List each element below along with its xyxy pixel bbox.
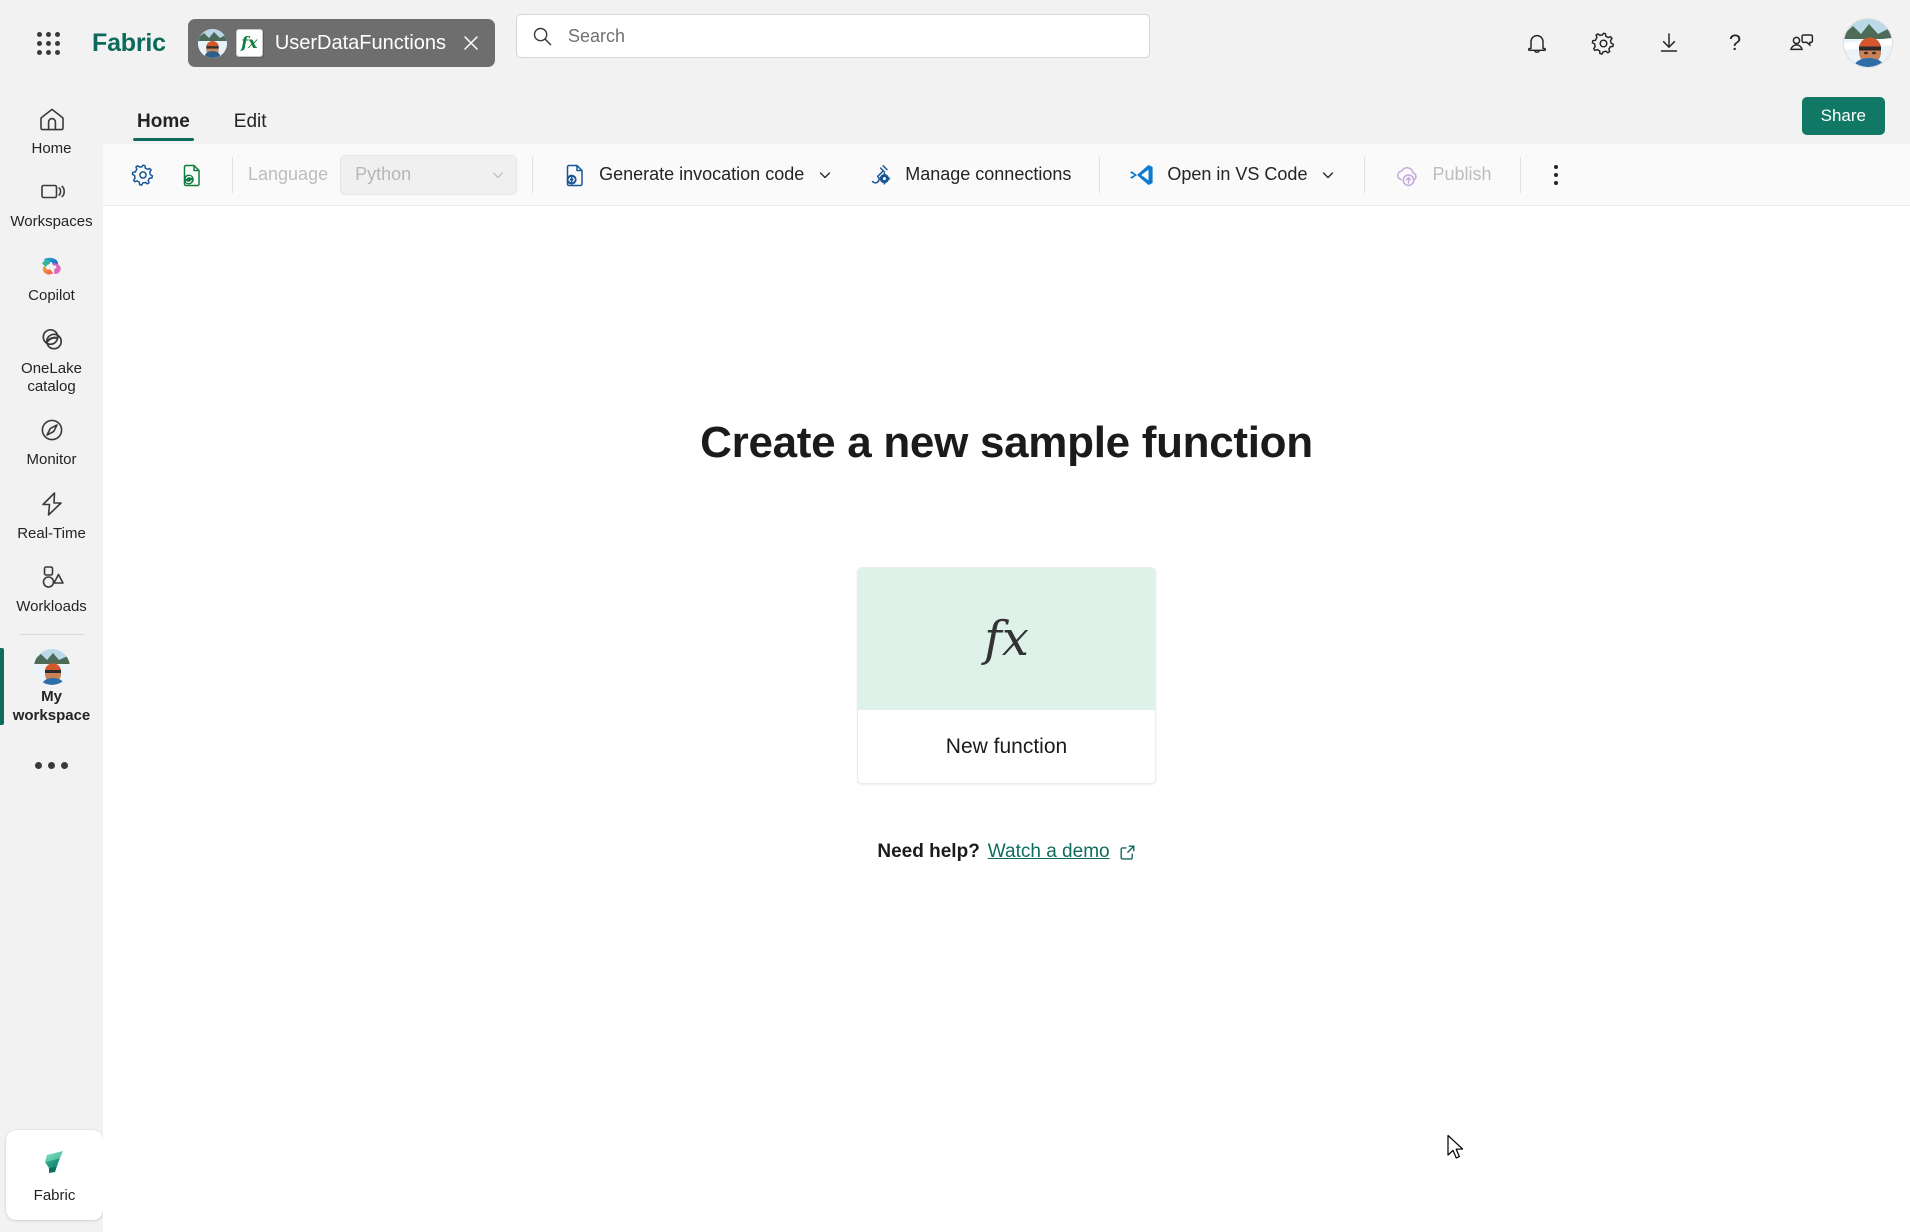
refresh-file-icon — [178, 162, 204, 188]
toolbar-divider — [1099, 157, 1100, 193]
help-line: Need help? Watch a demo — [877, 841, 1135, 863]
fx-icon: fx — [984, 615, 1029, 663]
fx-glyph-small: fx — [241, 35, 257, 51]
sidebar-item-workspaces[interactable]: Workspaces — [0, 167, 103, 237]
tab-edit[interactable]: Edit — [222, 111, 279, 144]
toolbar-divider — [532, 157, 533, 193]
command-toolbar: Language Python Generate invocation code — [103, 144, 1910, 206]
rail-divider — [20, 634, 84, 635]
main-canvas: Home Edit Share Language — [103, 86, 1910, 1232]
watch-demo-link[interactable]: Watch a demo — [988, 841, 1136, 863]
sidebar-more-options-button[interactable] — [23, 752, 80, 779]
page-title: Create a new sample function — [700, 418, 1313, 468]
open-in-new-window-icon — [1119, 844, 1136, 861]
toolbar-divider — [1520, 157, 1521, 193]
sidebar-item-label: My workspace — [6, 688, 98, 725]
code-file-icon — [561, 162, 587, 188]
gear-icon — [130, 162, 156, 188]
chevron-down-icon — [817, 167, 833, 183]
copilot-icon — [34, 248, 70, 284]
tab-label: Home — [137, 111, 190, 132]
search-box[interactable] — [516, 14, 1150, 58]
onelake-catalog-icon — [34, 321, 70, 357]
fabric-logo-icon — [37, 1144, 73, 1180]
search-input[interactable] — [566, 25, 1106, 48]
open-in-vs-code-label: Open in VS Code — [1167, 164, 1307, 185]
generate-invocation-code-button[interactable]: Generate invocation code — [548, 153, 846, 197]
vs-code-icon — [1128, 162, 1155, 188]
toolbar-divider — [232, 157, 233, 193]
workspaces-icon — [34, 174, 70, 210]
search-icon — [532, 26, 553, 47]
sidebar-item-label: Real-Time — [17, 525, 86, 543]
ribbon-tab-strip: Home Edit Share — [103, 86, 1910, 144]
toolbar-more-commands-button[interactable] — [1536, 153, 1576, 197]
sidebar-item-copilot[interactable]: Copilot — [0, 241, 103, 311]
settings-gear-icon[interactable] — [1581, 21, 1625, 65]
sidebar-item-label: Home — [31, 140, 71, 158]
download-icon[interactable] — [1647, 21, 1691, 65]
refresh-library-button[interactable] — [169, 154, 213, 196]
tab-label: Edit — [234, 111, 267, 132]
help-question-icon[interactable]: ? — [1713, 21, 1757, 65]
sidebar-item-label: Copilot — [28, 287, 75, 305]
top-bar: Fabric fx UserDataFunctions — [0, 0, 1910, 86]
new-function-card-label: New function — [858, 710, 1155, 783]
workloads-icon — [34, 559, 70, 595]
language-select[interactable]: Python — [340, 155, 517, 195]
publish-button: Publish — [1380, 153, 1504, 197]
waffle-grid-icon — [37, 32, 60, 55]
cloud-publish-icon — [1393, 162, 1420, 188]
sidebar-item-label: Workloads — [16, 598, 87, 616]
real-time-icon — [34, 486, 70, 522]
notifications-icon[interactable] — [1515, 21, 1559, 65]
top-bar-actions: ? — [1504, 0, 1892, 86]
home-icon — [34, 101, 70, 137]
watch-demo-label: Watch a demo — [988, 841, 1110, 863]
left-navigation-rail: Home Workspaces — [0, 86, 103, 1232]
share-button[interactable]: Share — [1802, 97, 1885, 135]
sidebar-item-onelake-catalog[interactable]: OneLake catalog — [0, 314, 103, 403]
sidebar-item-home[interactable]: Home — [0, 94, 103, 164]
sidebar-item-label: OneLake catalog — [6, 360, 98, 397]
manage-connections-button[interactable]: Manage connections — [852, 153, 1084, 197]
function-settings-button[interactable] — [121, 154, 165, 196]
app-launcher-button[interactable] — [25, 20, 71, 66]
fabric-button-label: Fabric — [34, 1187, 76, 1205]
sidebar-item-my-workspace[interactable]: My workspace — [0, 642, 103, 731]
new-function-card-thumbnail: fx — [858, 568, 1155, 710]
fabric-home-button[interactable]: Fabric — [6, 1130, 103, 1220]
chevron-down-icon — [1320, 167, 1336, 183]
sidebar-item-real-time[interactable]: Real-Time — [0, 479, 103, 549]
open-item-tab[interactable]: fx UserDataFunctions — [188, 19, 495, 67]
workspace-avatar — [34, 649, 70, 685]
feedback-icon[interactable] — [1779, 21, 1823, 65]
search-container — [516, 14, 1150, 58]
help-prefix-text: Need help? — [877, 841, 979, 863]
content-area: Create a new sample function fx New func… — [103, 207, 1910, 1232]
close-icon[interactable] — [459, 31, 483, 55]
sidebar-item-monitor[interactable]: Monitor — [0, 405, 103, 475]
language-label: Language — [248, 164, 328, 185]
sidebar-item-workloads[interactable]: Workloads — [0, 552, 103, 622]
tab-home[interactable]: Home — [125, 111, 202, 144]
brand-title[interactable]: Fabric — [92, 29, 166, 58]
workspace-avatar — [198, 29, 227, 58]
generate-invocation-code-label: Generate invocation code — [599, 164, 804, 185]
open-item-title: UserDataFunctions — [275, 32, 446, 55]
svg-text:?: ? — [1729, 30, 1741, 55]
open-in-vs-code-button[interactable]: Open in VS Code — [1115, 153, 1349, 197]
chevron-down-icon — [490, 167, 506, 183]
language-value: Python — [355, 164, 411, 185]
new-function-card[interactable]: fx New function — [857, 567, 1156, 784]
monitor-icon — [34, 412, 70, 448]
sidebar-item-label: Monitor — [26, 451, 76, 469]
sidebar-item-label: Workspaces — [10, 213, 92, 231]
publish-label: Publish — [1432, 164, 1491, 185]
toolbar-divider — [1364, 157, 1365, 193]
account-avatar[interactable] — [1844, 19, 1892, 67]
fx-document-icon: fx — [236, 29, 263, 57]
plug-gear-icon — [865, 162, 893, 188]
manage-connections-label: Manage connections — [905, 164, 1071, 185]
